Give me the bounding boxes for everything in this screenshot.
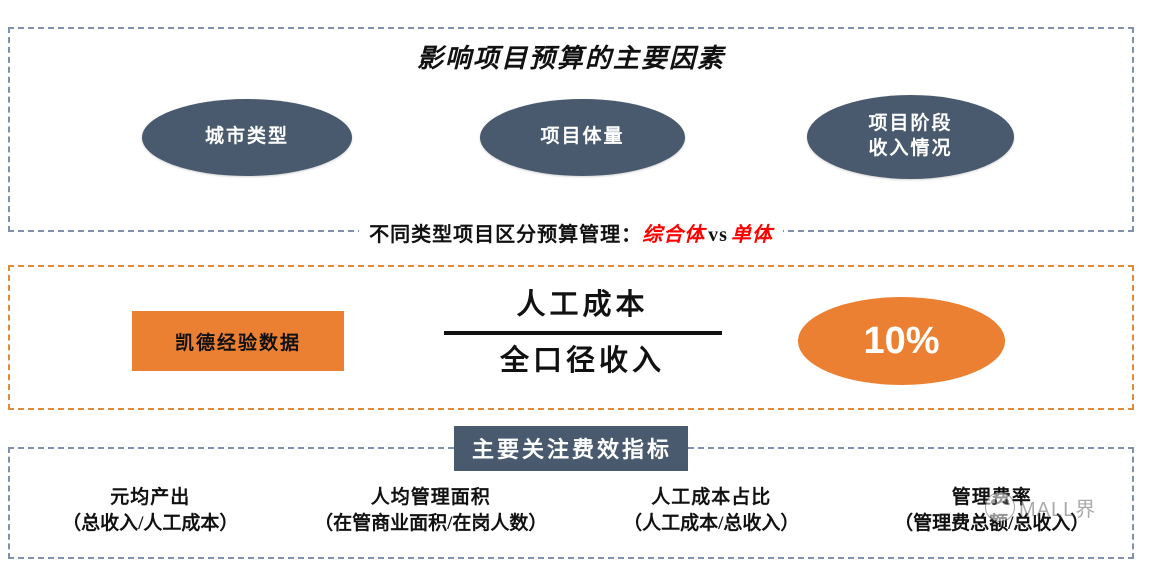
metrics-badge-label: 主要关注费效指标 bbox=[454, 426, 688, 471]
metric-formula: （管理费总额/总收入） bbox=[852, 511, 1133, 537]
factors-footnote: 不同类型项目区分预算管理：综合体vs单体 bbox=[10, 218, 1132, 247]
footnote-single-label: 单体 bbox=[731, 224, 773, 246]
formula-denominator: 全口径收入 bbox=[440, 343, 725, 379]
factor-ellipse-label: 城市类型 bbox=[205, 125, 289, 150]
factors-section: 影响项目预算的主要因素 城市类型 项目体量 项目阶段 收入情况 不同类型项目区分… bbox=[8, 27, 1134, 232]
footnote-complex-label: 综合体 bbox=[642, 224, 705, 246]
result-percentage-circle[interactable]: 10% bbox=[798, 297, 1005, 385]
metric-item-management-fee-rate[interactable]: 管理费率 （管理费总额/总收入） bbox=[852, 485, 1133, 536]
factor-ellipse-label: 项目阶段 收入情况 bbox=[868, 112, 952, 161]
result-percentage-label: 10% bbox=[863, 320, 939, 363]
factor-ellipse-row: 城市类型 项目体量 项目阶段 收入情况 bbox=[10, 87, 1132, 207]
factor-ellipse-stage-revenue[interactable]: 项目阶段 收入情况 bbox=[807, 95, 1014, 179]
metric-title: 人均管理面积 bbox=[291, 485, 572, 511]
metrics-section: 主要关注费效指标 元均产出 （总收入/人工成本） 人均管理面积 （在管商业面积/… bbox=[8, 447, 1134, 559]
formula-divider bbox=[444, 331, 722, 335]
factor-ellipse-label: 项目体量 bbox=[540, 125, 624, 150]
metric-item-area-per-capita[interactable]: 人均管理面积 （在管商业面积/在岗人数） bbox=[291, 485, 572, 536]
factors-footnote-inner: 不同类型项目区分预算管理：综合体vs单体 bbox=[359, 224, 783, 246]
footnote-vs-label: vs bbox=[705, 224, 731, 246]
slide-canvas: 影响项目预算的主要因素 城市类型 项目体量 项目阶段 收入情况 不同类型项目区分… bbox=[0, 0, 1150, 569]
cost-ratio-formula: 人工成本 全口径收入 bbox=[440, 287, 725, 380]
metric-formula: （总收入/人工成本） bbox=[10, 511, 291, 537]
formula-numerator: 人工成本 bbox=[440, 287, 725, 323]
experience-data-label: 凯德经验数据 bbox=[175, 328, 301, 355]
metric-item-yuan-output[interactable]: 元均产出 （总收入/人工成本） bbox=[10, 485, 291, 536]
factor-ellipse-project-scale[interactable]: 项目体量 bbox=[480, 99, 685, 176]
page-title-text: 影响项目预算的主要因素 bbox=[403, 44, 739, 73]
metric-formula: （人工成本/总收入） bbox=[571, 511, 852, 537]
page-title: 影响项目预算的主要因素 bbox=[10, 38, 1132, 75]
experience-data-box[interactable]: 凯德经验数据 bbox=[132, 311, 344, 371]
metrics-badge: 主要关注费效指标 bbox=[10, 426, 1132, 471]
metric-title: 管理费率 bbox=[852, 485, 1133, 511]
metric-formula: （在管商业面积/在岗人数） bbox=[291, 511, 572, 537]
footnote-prefix: 不同类型项目区分预算管理： bbox=[369, 224, 642, 246]
metric-title: 元均产出 bbox=[10, 485, 291, 511]
metrics-row: 元均产出 （总收入/人工成本） 人均管理面积 （在管商业面积/在岗人数） 人工成… bbox=[10, 485, 1132, 536]
metric-title: 人工成本占比 bbox=[571, 485, 852, 511]
metric-item-labor-cost-ratio[interactable]: 人工成本占比 （人工成本/总收入） bbox=[571, 485, 852, 536]
factor-ellipse-city-type[interactable]: 城市类型 bbox=[142, 99, 352, 176]
